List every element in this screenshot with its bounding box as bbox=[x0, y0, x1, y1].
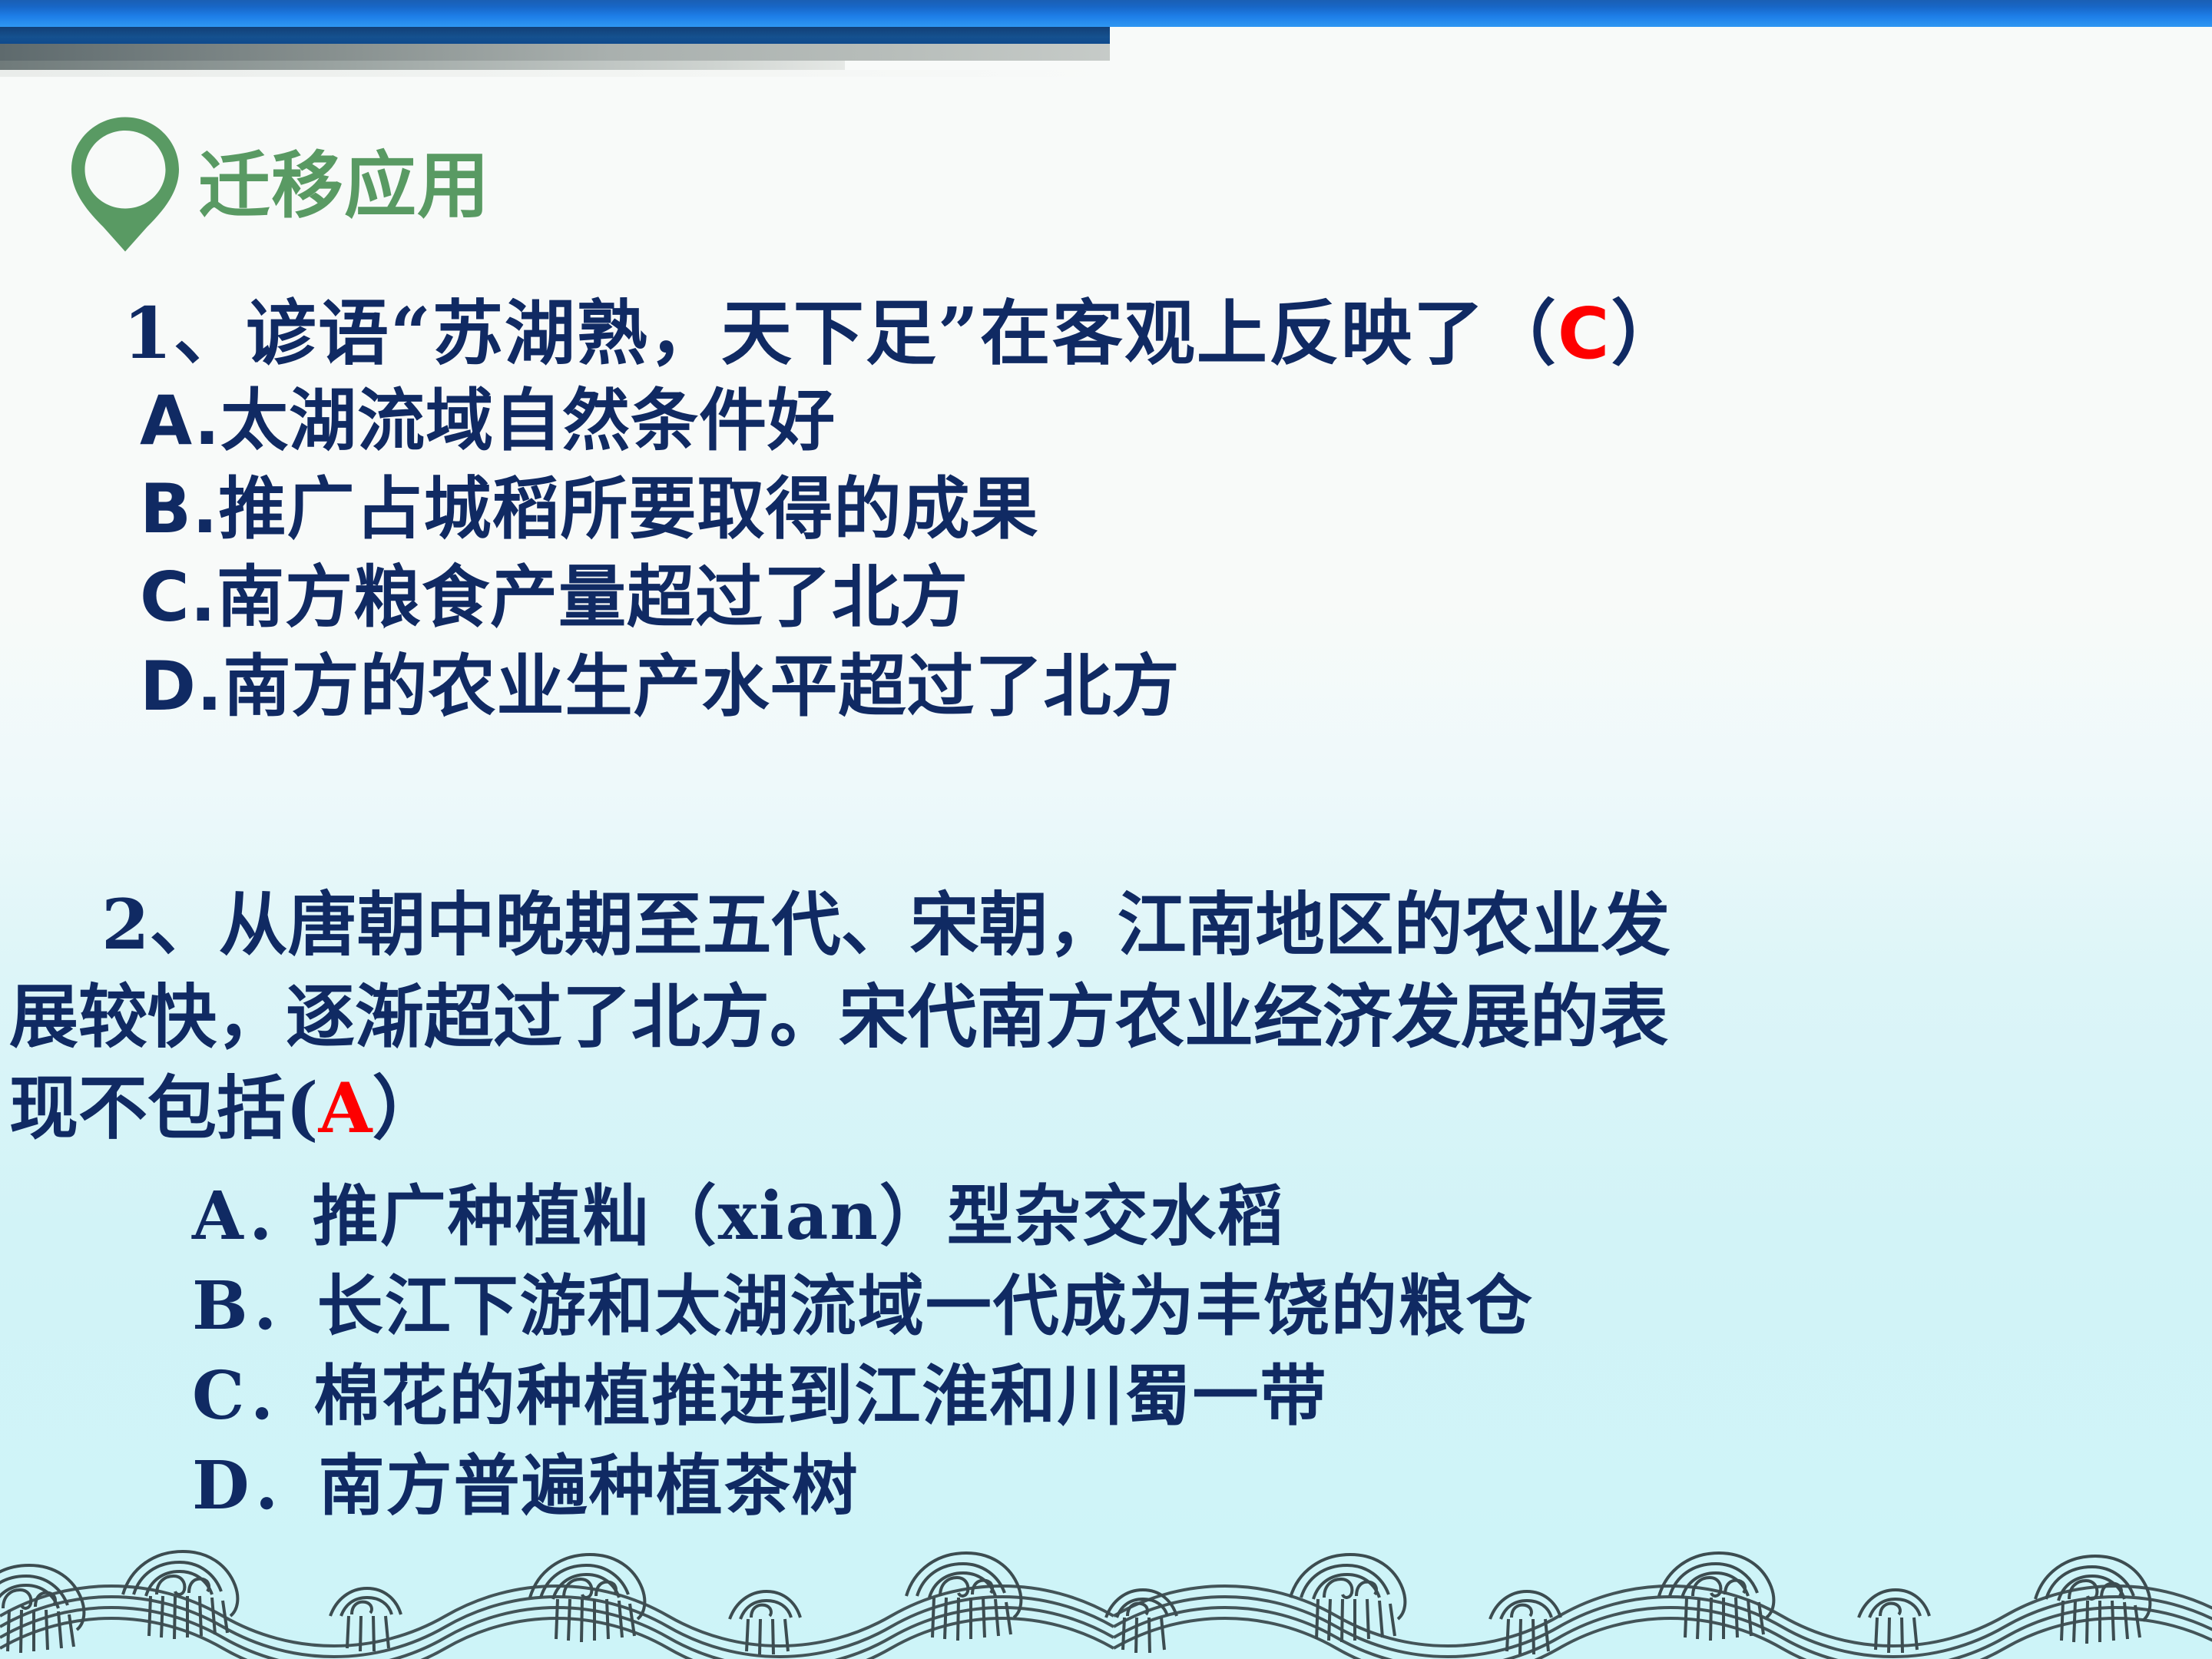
question-2-option-d[interactable]: D．南方普遍种植茶树 bbox=[192, 1442, 2212, 1532]
option-a-label: A. bbox=[140, 381, 220, 460]
question-2-stem-line-3: 现不包括(A） bbox=[0, 1063, 2212, 1155]
option-d-label: D． bbox=[192, 1447, 319, 1525]
option-a-text: 太湖流域自然条件好 bbox=[220, 380, 836, 460]
top-bar-navy-stripe bbox=[0, 27, 1110, 44]
section-heading: 迁移应用 bbox=[60, 111, 490, 261]
option-c-label: C. bbox=[140, 558, 217, 637]
option-c-text: 南方粮食产量超过了北方 bbox=[217, 557, 969, 637]
option-d-text: 南方普遍种植茶树 bbox=[319, 1447, 859, 1525]
option-b-label: B． bbox=[192, 1267, 317, 1345]
option-d-text: 南方的农业生产水平超过了北方 bbox=[223, 646, 1180, 726]
option-a-text: 推广种植籼（xian）型杂交水稻 bbox=[313, 1177, 1285, 1255]
section-title-text: 迁移应用 bbox=[198, 151, 490, 223]
option-d-label: D. bbox=[140, 647, 223, 726]
question-1-number: 1、 bbox=[123, 292, 246, 375]
question-2-option-b[interactable]: B．长江下游和太湖流域一代成为丰饶的粮仓 bbox=[192, 1262, 2212, 1352]
question-1-option-b[interactable]: B.推广占城稻所要取得的成果 bbox=[140, 465, 2197, 553]
top-bar-blue-gradient bbox=[0, 0, 2212, 27]
option-a-label: A． bbox=[192, 1177, 313, 1255]
question-1-stem-close: ） bbox=[1611, 292, 1683, 375]
question-1-stem: 1、谚语“苏湖熟，天下足”在客观上反映了（C） bbox=[123, 292, 2197, 376]
question-2-stem-line-3-after: ） bbox=[372, 1068, 441, 1149]
question-2-option-c[interactable]: C．棉花的种植推进到江淮和川蜀一带 bbox=[192, 1352, 2212, 1442]
top-bar-pale-stripe bbox=[0, 70, 1110, 77]
question-1-option-d[interactable]: D.南方的农业生产水平超过了北方 bbox=[140, 642, 2197, 730]
question-1-option-c[interactable]: C.南方粮食产量超过了北方 bbox=[140, 553, 2197, 641]
option-b-text: 推广占城稻所要取得的成果 bbox=[219, 469, 1039, 548]
question-2-stem-line-1: 2、从唐朝中晚期至五代、宋朝，江南地区的农业发 bbox=[0, 879, 2212, 972]
option-b-text: 长江下游和太湖流域一代成为丰饶的粮仓 bbox=[317, 1267, 1534, 1345]
option-c-label: C． bbox=[192, 1357, 313, 1435]
question-1-block: 1、谚语“苏湖熟，天下足”在客观上反映了（C） A.太湖流域自然条件好 B.推广… bbox=[123, 292, 2197, 730]
question-2-stem-line-3-before: 现不包括( bbox=[9, 1068, 319, 1149]
option-c-text: 棉花的种植推进到江淮和川蜀一带 bbox=[313, 1357, 1327, 1435]
top-bar-gray-stripe bbox=[0, 44, 1110, 61]
question-2-block: 2、从唐朝中晚期至五代、宋朝，江南地区的农业发 展较快，逐渐超过了北方。宋代南方… bbox=[0, 879, 2212, 1532]
question-1-stem-text: 谚语“苏湖熟，天下足”在客观上反映了（ bbox=[246, 292, 1558, 375]
question-2-stem-line-2: 展较快，逐渐超过了北方。宋代南方农业经济发展的表 bbox=[0, 972, 2212, 1064]
question-1-answer: C bbox=[1558, 293, 1611, 375]
chinese-sea-wave-pattern-icon bbox=[0, 1528, 2212, 1659]
top-bar-gray-stripe-2 bbox=[0, 61, 845, 70]
question-2-option-list: A．推广种植籼（xian）型杂交水稻 B．长江下游和太湖流域一代成为丰饶的粮仓 … bbox=[0, 1172, 2212, 1532]
question-2-answer: A bbox=[319, 1068, 373, 1149]
option-b-label: B. bbox=[140, 469, 219, 548]
location-pin-icon bbox=[60, 111, 190, 261]
question-2-option-a[interactable]: A．推广种植籼（xian）型杂交水稻 bbox=[192, 1172, 2212, 1262]
question-1-option-a[interactable]: A.太湖流域自然条件好 bbox=[140, 376, 2197, 465]
slide-canvas: 迁移应用 1、谚语“苏湖熟，天下足”在客观上反映了（C） A.太湖流域自然条件好… bbox=[0, 0, 2212, 1659]
